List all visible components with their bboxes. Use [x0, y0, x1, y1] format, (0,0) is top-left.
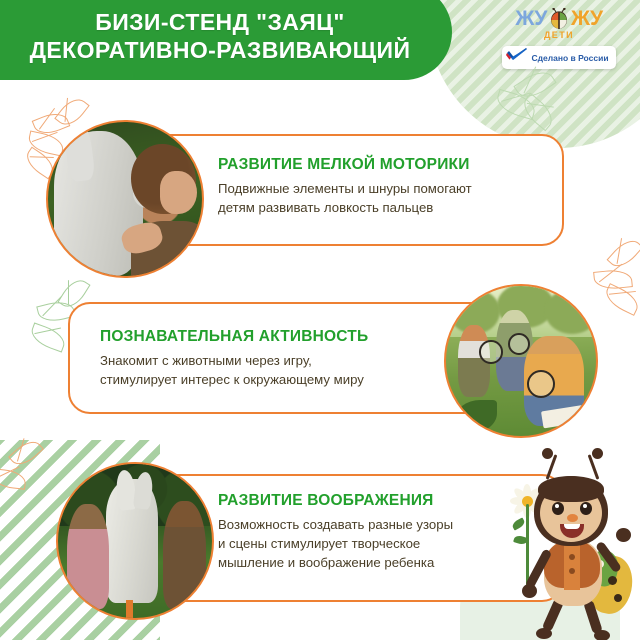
mascot-teeth: [564, 524, 580, 529]
child-face-shape: [160, 171, 197, 214]
antenna-ball-right: [592, 448, 603, 459]
mascot-nose: [567, 514, 578, 522]
leaf-icon: [607, 235, 640, 273]
photo-two-children-rabbit-board: [56, 462, 214, 620]
photo-content: [58, 464, 212, 618]
header-banner: БИЗИ-СТЕНД "ЗАЯЦ" ДЕКОРАТИВНО-РАЗВИВАЮЩИ…: [0, 0, 452, 80]
leaf-cluster-header-right: [490, 68, 580, 138]
feature-card-1-body-line-1: Подвижные элементы и шнуры помогают: [218, 179, 548, 198]
vest-button: [569, 568, 575, 574]
magnifier-icon: [527, 370, 555, 398]
feature-card-2-body-line-2: стимулирует интерес к окружающему миру: [100, 370, 448, 389]
mascot-vest-panel: [564, 540, 580, 590]
ladybug-mascot-with-flower: [496, 448, 640, 638]
mascot-foot-right: [594, 630, 610, 640]
magnifier-icon: [479, 340, 503, 364]
page-title-line-2: ДЕКОРАТИВНО-РАЗВИВАЮЩИЙ: [30, 36, 411, 64]
child-shape-boy: [163, 501, 206, 609]
brand-word-part-2: ЖУ: [571, 8, 603, 29]
leaf-icon: [28, 322, 68, 352]
mascot-hand-right: [616, 528, 631, 542]
photo-children-with-magnifiers: [444, 284, 598, 438]
feature-card-2-body-line-1: Знакомит с животными через игру,: [100, 351, 448, 370]
mascot-hand-left: [522, 584, 537, 598]
feature-card-2-text: ПОЗНАВАТЕЛЬНАЯ АКТИВНОСТЬ Знакомит с жив…: [100, 328, 448, 389]
mascot-hair: [538, 476, 604, 502]
vest-button: [569, 554, 575, 560]
wing-spot: [614, 594, 622, 602]
photo-boy-with-rabbit-board: [46, 120, 204, 278]
leaf-icon: [8, 436, 44, 471]
leaf-icon: [0, 468, 27, 489]
antenna-ball-left: [542, 448, 553, 459]
made-in-russia-badge: Сделано в России: [502, 46, 615, 69]
feature-card-2-heading: ПОЗНАВАТЕЛЬНАЯ АКТИВНОСТЬ: [100, 328, 448, 346]
brand-word-part-1: ЖУ: [515, 8, 547, 29]
leaf-cluster-right-middle: [594, 244, 640, 354]
feature-card-1-heading: РАЗВИТИЕ МЕЛКОЙ МОТОРИКИ: [218, 156, 548, 174]
feature-card-1-body-line-2: детям развивать ловкость пальцев: [218, 198, 548, 217]
leaf-icon: [602, 283, 640, 316]
infographic-canvas: БИЗИ-СТЕНД "ЗАЯЦ" ДЕКОРАТИВНО-РАЗВИВАЮЩИ…: [0, 0, 640, 640]
child-shape-girl: [67, 504, 109, 609]
ladybug-icon: [549, 8, 569, 29]
brand-logo: ЖУ ЖУ ДЕТИ: [494, 8, 624, 69]
mascot-eye-right: [580, 502, 592, 515]
made-in-russia-text: Сделано в России: [531, 53, 608, 63]
board-post-shape: [126, 600, 134, 620]
page-title: БИЗИ-СТЕНД "ЗАЯЦ" ДЕКОРАТИВНО-РАЗВИВАЮЩИ…: [30, 8, 411, 64]
brand-wordmark: ЖУ ЖУ: [515, 8, 602, 29]
wing-spot: [608, 576, 617, 585]
foreground-leaf-shape: [455, 400, 497, 433]
leaf-cluster-bottom-left: [0, 440, 60, 520]
feature-card-1-text: РАЗВИТИЕ МЕЛКОЙ МОТОРИКИ Подвижные элеме…: [218, 156, 548, 217]
brand-subtitle: ДЕТИ: [544, 30, 574, 40]
mascot-foot-left: [536, 628, 552, 639]
magnifier-icon: [508, 333, 530, 355]
tree-shape: [545, 289, 598, 334]
russian-flag-check-icon: [506, 48, 528, 67]
page-title-line-1: БИЗИ-СТЕНД "ЗАЯЦ": [30, 8, 411, 36]
flower-leaf: [511, 517, 526, 530]
mascot-eye-left: [552, 502, 564, 515]
photo-content: [48, 122, 202, 276]
photo-content: [446, 286, 596, 436]
